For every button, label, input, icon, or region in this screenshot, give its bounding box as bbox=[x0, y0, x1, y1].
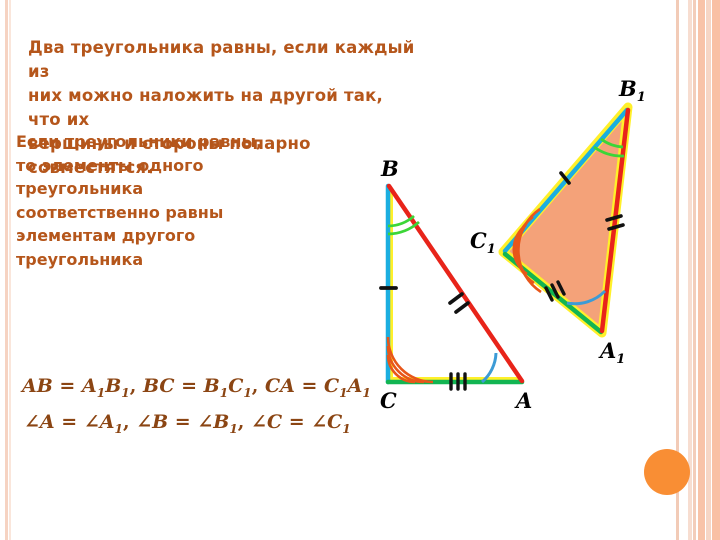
vertex-label-a1-text: A bbox=[600, 338, 616, 363]
vertex-label-b-text: B bbox=[381, 156, 399, 181]
vertex-label-a: A bbox=[516, 388, 532, 413]
vertex-label-a1: A1 bbox=[600, 338, 625, 367]
vertex-label-b1-text: B bbox=[619, 76, 637, 101]
triangle1-side-ab bbox=[389, 186, 522, 381]
vertex-label-c-text: C bbox=[380, 388, 397, 413]
slide-canvas: Два треугольника равны, если каждый из н… bbox=[0, 0, 720, 540]
vertex-label-c1-text: C bbox=[470, 228, 487, 253]
vertex-label-c1: C1 bbox=[470, 228, 496, 257]
vertex-label-a-text: A bbox=[516, 388, 532, 413]
angle-c-arcs bbox=[388, 337, 433, 382]
vertex-label-a1-sub: 1 bbox=[616, 352, 625, 367]
triangle-abc bbox=[381, 186, 522, 389]
vertex-label-c1-sub: 1 bbox=[487, 242, 496, 257]
triangle-a1b1c1 bbox=[503, 107, 628, 333]
vertex-label-c: C bbox=[380, 388, 397, 413]
vertex-label-b1-sub: 1 bbox=[637, 90, 646, 105]
vertex-label-b: B bbox=[381, 156, 399, 181]
vertex-label-b1: B1 bbox=[619, 76, 646, 105]
geometry-figure bbox=[0, 0, 720, 540]
